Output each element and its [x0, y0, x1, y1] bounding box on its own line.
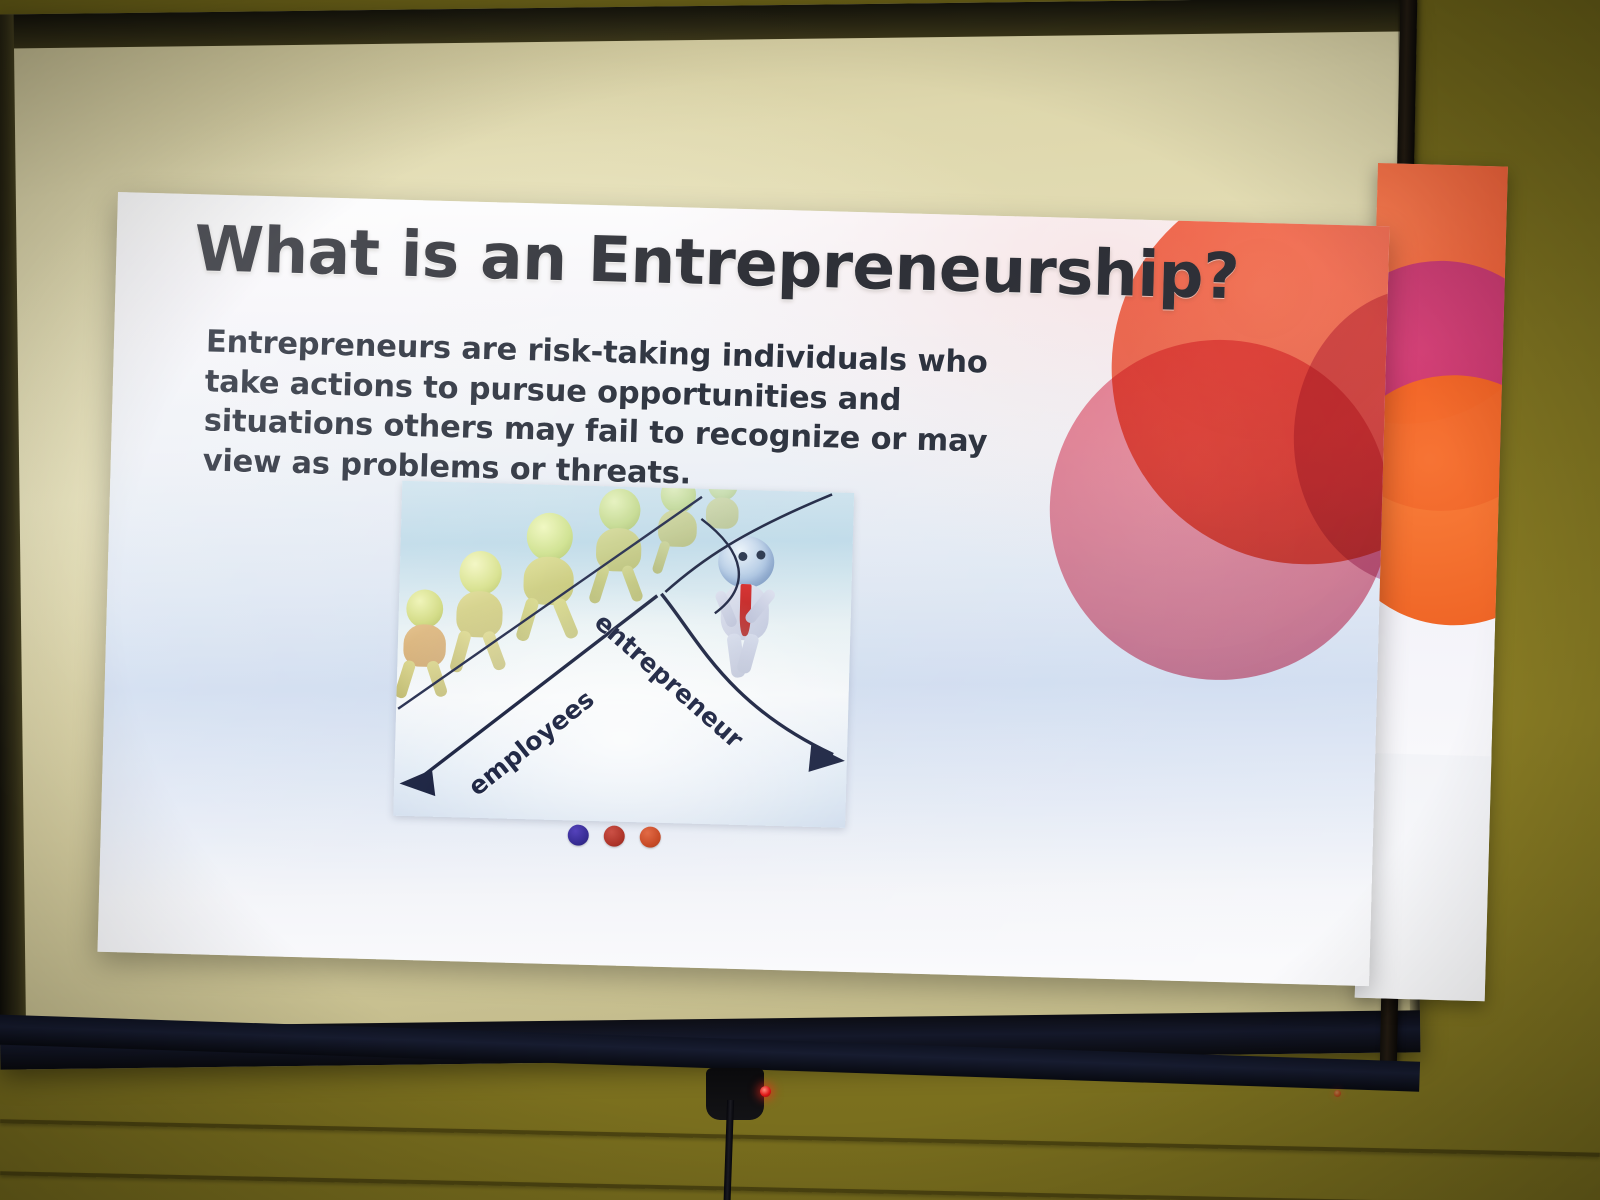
projector-mount	[706, 1068, 764, 1120]
power-led	[760, 1086, 771, 1097]
slide-canvas: What is an Entrepreneurship? Entrepreneu…	[97, 192, 1389, 986]
screenshot-root: What is an Entrepreneurship? Entrepreneu…	[0, 0, 1600, 1200]
projected-slide: What is an Entrepreneurship? Entrepreneu…	[97, 192, 1389, 986]
slide-glare	[97, 192, 1389, 986]
secondary-led	[1334, 1090, 1341, 1097]
spill-white-lower	[1355, 752, 1508, 1001]
